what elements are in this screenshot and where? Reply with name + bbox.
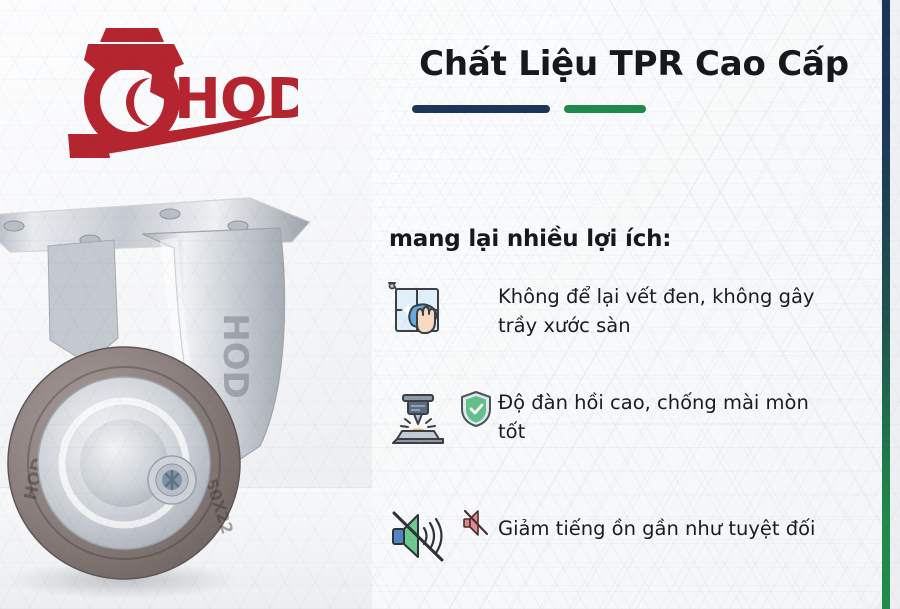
- product-image: HOD HOD 50X22: [0, 188, 364, 609]
- svg-text:HOD: HOD: [215, 313, 255, 399]
- caster-wheel-logo-icon: HOD: [58, 22, 298, 162]
- benefit-text: Độ đàn hồi cao, chống mài mòn tốt: [498, 382, 840, 447]
- window-cleaning-icon: [382, 272, 454, 344]
- benefits-heading: mang lại nhiều lợi ích:: [389, 226, 671, 252]
- benefit-text: Không để lại vết đen, không gây trầy xướ…: [498, 272, 846, 341]
- brand-logo: HOD: [58, 22, 298, 162]
- benefit-item: Không để lại vết đen, không gây trầy xướ…: [382, 272, 846, 344]
- benefit-item: Giảm tiếng ồn gần như tuyệt đối: [382, 500, 850, 572]
- accent-bar-navy: [412, 105, 550, 113]
- svg-text:HOD: HOD: [174, 67, 298, 132]
- card-content: Chất Liệu TPR Cao Cấp mang lại nhiều lợi…: [372, 0, 888, 609]
- card-title: Chất Liệu TPR Cao Cấp: [408, 44, 860, 85]
- press-machine-icon: [382, 382, 454, 454]
- product-panel: HOD: [0, 0, 372, 609]
- benefit-text: Giảm tiếng ồn gần như tuyệt đối: [498, 500, 850, 543]
- speaker-muted-green-icon: [382, 500, 454, 572]
- benefit-item: Độ đàn hồi cao, chống mài mòn tốt: [382, 382, 840, 454]
- rigid-caster-wheel-photo: HOD HOD 50X22: [0, 188, 364, 609]
- speaker-muted-red-icon: [454, 500, 498, 572]
- shield-check-icon: [454, 382, 498, 454]
- benefit-badge-empty: [454, 272, 498, 344]
- accent-bar-green: [564, 105, 646, 113]
- promo-banner: HOD: [0, 0, 900, 609]
- accent-bars: [412, 105, 646, 113]
